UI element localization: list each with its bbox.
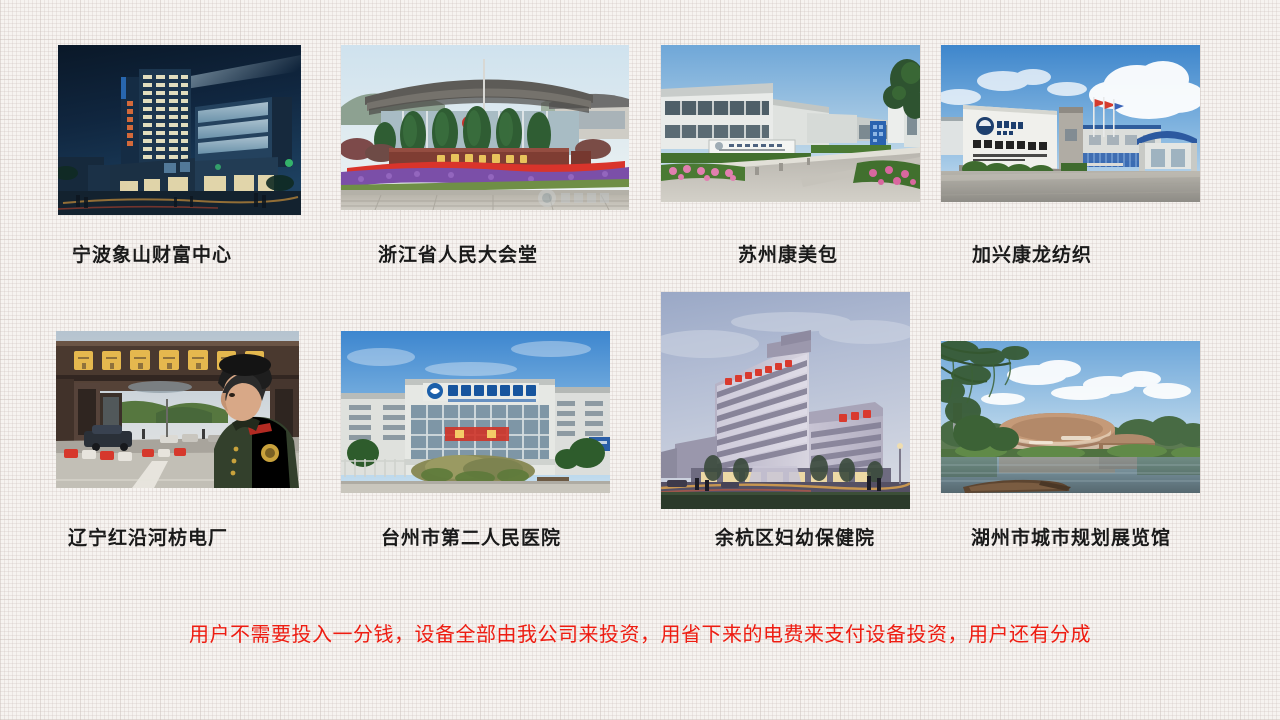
caption-ningbo-xiangshan-wealth-center: 宁波象山财富中心 bbox=[72, 240, 232, 267]
caption-zhejiang-great-hall: 浙江省人民大会堂 bbox=[378, 240, 538, 267]
slide-canvas: 宁波象山财富中心 bbox=[0, 0, 1280, 720]
photo-taizhou-second-peoples-hospital[interactable] bbox=[341, 331, 610, 493]
photo-liaoning-hongyanhe-plant[interactable] bbox=[56, 331, 299, 488]
photo-huzhou-urban-planning-hall[interactable] bbox=[941, 341, 1200, 493]
slide-tagline: 用户不需要投入一分钱，设备全部由我公司来投资，用省下来的电费来支付设备投资，用户… bbox=[0, 618, 1280, 647]
photo-ningbo-xiangshan-wealth-center[interactable] bbox=[58, 45, 301, 215]
caption-liaoning-hongyanhe-plant: 辽宁红沿河枋电厂 bbox=[68, 523, 228, 550]
caption-huzhou-urban-planning-hall: 湖州市城市规划展览馆 bbox=[971, 523, 1171, 550]
photo-jiaxing-konglong-textile[interactable] bbox=[941, 45, 1200, 202]
caption-taizhou-second-peoples-hospital: 台州市第二人民医院 bbox=[381, 523, 561, 550]
photo-yuhang-maternal-child-hospital[interactable] bbox=[661, 292, 910, 509]
caption-yuhang-maternal-child-hospital: 余杭区妇幼保健院 bbox=[715, 523, 875, 550]
photo-suzhou-kangmeibao[interactable] bbox=[661, 45, 920, 202]
photo-zhejiang-great-hall[interactable] bbox=[341, 45, 629, 210]
caption-suzhou-kangmeibao: 苏州康美包 bbox=[738, 240, 838, 267]
caption-jiaxing-konglong-textile: 加兴康龙纺织 bbox=[972, 240, 1092, 267]
